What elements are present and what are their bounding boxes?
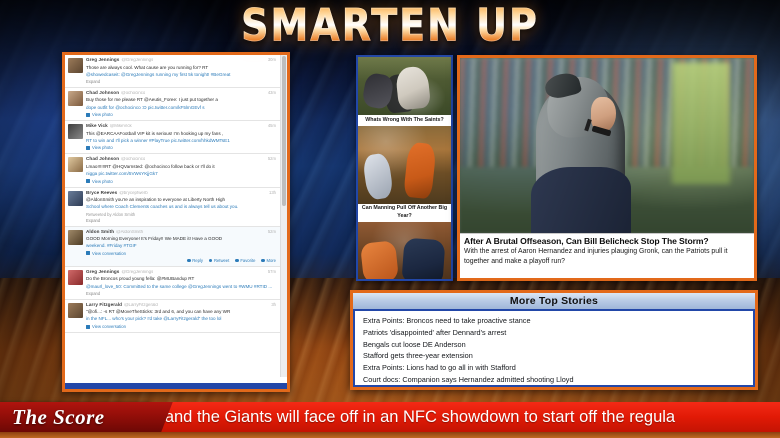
- ticker-bottom-edge: [0, 432, 780, 438]
- saints-photo: [358, 57, 451, 115]
- tweet-author-name[interactable]: Greg Jennings: [86, 270, 119, 275]
- tweet-body: Aldon Smith@AldonSmith52mGOOD Morning Ev…: [86, 230, 276, 263]
- tweet-author-name[interactable]: Mike Vick: [86, 124, 108, 129]
- belichick-photo: [460, 58, 754, 234]
- story-list-item[interactable]: Extra Points: Broncos need to take proac…: [363, 315, 747, 327]
- tweet-timestamp: 30m: [266, 58, 276, 62]
- tweet-author-name[interactable]: Larry Fitzgerald: [86, 303, 122, 308]
- thumbnail-photo-layer: [358, 222, 451, 281]
- tweet-author-handle[interactable]: @ochocinco: [121, 157, 145, 161]
- tweet-author-handle[interactable]: @LarryFitzgerald: [124, 303, 158, 307]
- tweet-author-handle[interactable]: @brycepfwerb: [119, 191, 147, 195]
- scrollbar-thumb[interactable]: [282, 56, 286, 206]
- tweet-text: This @EARCAAFootball VIP kit is serious!…: [86, 130, 276, 137]
- ticker-text: s and the Giants will face off in an NFC…: [152, 408, 675, 427]
- tweet-action-reply-button[interactable]: Reply: [187, 258, 203, 263]
- twitter-feed-inner: Greg Jennings@GregJennings30mThose are a…: [65, 55, 287, 389]
- ticker-strip: s and the Giants will face off in an NFC…: [150, 402, 780, 432]
- ticker-bar: The Score s and the Giants will face off…: [0, 402, 780, 432]
- tweet-media-link[interactable]: View photo: [86, 145, 276, 150]
- tweet-author-name[interactable]: Greg Jennings: [86, 58, 119, 63]
- tweet-media-label: View conversation: [92, 251, 126, 256]
- avatar[interactable]: [68, 91, 83, 106]
- tweet-body: Greg Jennings@GregJennings57mDo the Bron…: [86, 270, 276, 296]
- photo-icon: [86, 113, 90, 117]
- tweet-header: Bryce Reeves@brycepfwerb13h: [86, 191, 276, 196]
- photo-icon: [86, 325, 90, 329]
- tweet-author-handle[interactable]: @GregJennings: [121, 270, 153, 274]
- tweet-expand-link[interactable]: Expand: [86, 218, 276, 223]
- tweet-text: Do the Broncos proud young fella: @#MUBa…: [86, 275, 276, 282]
- tweet-media-link[interactable]: View conversation: [86, 324, 276, 329]
- tweet-text: "@ofi...: -s RT @MoveTheSticks: 3rd and …: [86, 308, 276, 315]
- more-top-stories-panel: More Top Stories Extra Points: Broncos n…: [350, 290, 758, 390]
- main-story-panel[interactable]: After A Brutal Offseason, Can Bill Belic…: [457, 55, 757, 281]
- tweet-media-label: View photo: [92, 179, 113, 184]
- tweet-list[interactable]: Greg Jennings@GregJennings30mThose are a…: [65, 55, 280, 377]
- main-story-summary: With the arrest of Aaron Hernandez and i…: [460, 247, 754, 270]
- tweet-header: Chad Johnson@ochocinco43m: [86, 91, 276, 96]
- tweet-text: GOOD Morning Everyone! It's Friday!! We …: [86, 235, 276, 242]
- tweet-header: Greg Jennings@GregJennings57m: [86, 270, 276, 275]
- scrollbar[interactable]: [280, 55, 287, 377]
- tweet-action-label: Reply: [192, 258, 203, 263]
- avatar[interactable]: [68, 124, 83, 139]
- avatar[interactable]: [68, 230, 83, 245]
- avatar[interactable]: [68, 191, 83, 206]
- thumbnail-caption: Can Manning Pull Off Another Big Year?: [358, 204, 451, 222]
- tweet-author-handle[interactable]: @AldonSmith: [116, 230, 143, 234]
- ticker-brand: The Score: [0, 402, 150, 432]
- tweet-actions: ReplyRetweetFavoriteMore: [86, 258, 276, 263]
- tweet-header: Chad Johnson@ochocinco52m: [86, 157, 276, 162]
- tweet-author-handle[interactable]: @MikeVick: [110, 124, 132, 128]
- thumbnail-photo-layer: [358, 57, 451, 115]
- thumbnail-item[interactable]: Da Bears!: [358, 222, 451, 281]
- tweet-text: Those are always cool. What cause are yo…: [86, 64, 276, 71]
- tweet-media-link[interactable]: View photo: [86, 179, 276, 184]
- thumbnail-photo-layer: [358, 126, 451, 204]
- photo-icon: [86, 251, 90, 255]
- main-story-headline: After A Brutal Offseason, Can Bill Belic…: [460, 234, 754, 247]
- tweet-action-more-button[interactable]: More: [261, 258, 276, 263]
- tweet-item[interactable]: Chad Johnson@ochocinco43mBuy those for m…: [65, 88, 280, 121]
- tweet-body: Bryce Reeves@brycepfwerb13h@AldonSmith y…: [86, 191, 276, 223]
- tweet-text-continued: RT to win and I'll pick a winner #PlayTr…: [86, 137, 276, 144]
- tweet-text: @AldonSmith you're an inspiration to eve…: [86, 196, 276, 203]
- tweet-action-label: Favorite: [240, 258, 255, 263]
- tweet-author-handle[interactable]: @ochocinco: [121, 91, 145, 95]
- story-list-item[interactable]: Extra Points: Lions had to go all in wit…: [363, 362, 747, 374]
- tweet-body: Chad Johnson@ochocinco43mBuy those for m…: [86, 91, 276, 117]
- title-container: SMARTEN UP: [0, 2, 780, 48]
- story-list-item[interactable]: Patriots 'disappointed' after Dennard's …: [363, 327, 747, 339]
- thumbnail-item[interactable]: Whats Wrong With The Saints?: [358, 57, 451, 126]
- tweet-media-label: View conversation: [92, 324, 126, 329]
- retweet-icon: [209, 259, 213, 263]
- favorite-icon: [235, 259, 239, 263]
- ticker-brand-label: The Score: [12, 405, 105, 430]
- tweet-author-handle[interactable]: @GregJennings: [121, 58, 153, 62]
- tweet-text-continued: @showedcaseit: @GregJennings running my …: [86, 71, 276, 78]
- tweet-media-link[interactable]: View photo: [86, 112, 276, 117]
- photo-coach-shoulder: [531, 167, 631, 235]
- tweet-action-retweet-button[interactable]: Retweet: [209, 258, 229, 263]
- tweet-author-name[interactable]: Bryce Reeves: [86, 191, 117, 196]
- tweet-author-name[interactable]: Aldon Smith: [86, 230, 114, 235]
- tweet-item[interactable]: Larry Fitzgerald@LarryFitzgerald3h"@ofi.…: [65, 300, 280, 333]
- tweet-text-continued: weekend. #Friday #TGIF: [86, 242, 276, 249]
- photo-icon: [86, 179, 90, 183]
- more-top-stories-title: More Top Stories: [510, 295, 598, 307]
- tweet-text: Buy those for me please RT @Aeutis_Foree…: [86, 96, 276, 103]
- tweet-expand-link[interactable]: Expand: [86, 291, 276, 296]
- page-title: SMARTEN UP: [241, 3, 539, 48]
- tweet-body: Greg Jennings@GregJennings30mThose are a…: [86, 58, 276, 84]
- bears-photo: [358, 222, 451, 281]
- tweet-item[interactable]: Mike Vick@MikeVick45mThis @EARCAAFootbal…: [65, 121, 280, 154]
- avatar[interactable]: [68, 270, 83, 285]
- more-top-stories-header: More Top Stories: [353, 293, 755, 311]
- tweet-body: Mike Vick@MikeVick45mThis @EARCAAFootbal…: [86, 124, 276, 150]
- tweet-header: Greg Jennings@GregJennings30m: [86, 58, 276, 63]
- more-top-stories-list: Extra Points: Broncos need to take proac…: [353, 311, 755, 387]
- tweet-timestamp: 3h: [269, 303, 276, 307]
- reply-icon: [187, 259, 191, 263]
- twitter-feed-panel: Greg Jennings@GregJennings30mThose are a…: [62, 52, 290, 392]
- tweet-timestamp: 57m: [266, 270, 276, 274]
- tweet-item[interactable]: Bryce Reeves@brycepfwerb13h@AldonSmith y…: [65, 188, 280, 227]
- tweet-author-name[interactable]: Chad Johnson: [86, 91, 119, 96]
- tweet-text-continued: @maurl_love_50: Committed to the same co…: [86, 283, 276, 290]
- tweet-expand-link[interactable]: Expand: [86, 79, 276, 84]
- tweet-retweet-note: Retweeted by Aldon Smith: [86, 212, 276, 217]
- broadcast-graphic-stage: SMARTEN UP Greg Jennings@GregJennings30m…: [0, 0, 780, 438]
- tweet-text-continued: nigga pic.twitter.com/5VWsYKjjGk7: [86, 170, 276, 177]
- avatar[interactable]: [68, 157, 83, 172]
- more-icon: [261, 259, 265, 263]
- tweet-header: Larry Fitzgerald@LarryFitzgerald3h: [86, 303, 276, 308]
- tweet-item[interactable]: Chad Johnson@ochocinco52mLmao!!!!!!RT @H…: [65, 154, 280, 187]
- tweet-item[interactable]: Greg Jennings@GregJennings57mDo the Bron…: [65, 267, 280, 300]
- tweet-item[interactable]: Aldon Smith@AldonSmith52mGOOD Morning Ev…: [65, 227, 280, 267]
- tweet-header: Mike Vick@MikeVick45m: [86, 124, 276, 129]
- tweet-media-label: View photo: [92, 112, 113, 117]
- thumbnail-caption: Whats Wrong With The Saints?: [358, 115, 451, 126]
- tweet-timestamp: 13h: [267, 191, 276, 195]
- tweet-body: Chad Johnson@ochocinco52mLmao!!!!!!RT @H…: [86, 157, 276, 183]
- tweet-item[interactable]: Greg Jennings@GregJennings30mThose are a…: [65, 55, 280, 88]
- tweet-text-continued: in the NFL... who's your pick? I'd take …: [86, 315, 276, 322]
- tweet-text-continued: School where Coach Clements coaches us a…: [86, 203, 276, 210]
- tweet-author-name[interactable]: Chad Johnson: [86, 157, 119, 162]
- story-list-item[interactable]: Court docs: Companion says Hernandez adm…: [363, 374, 747, 386]
- tweet-media-link[interactable]: View conversation: [86, 251, 276, 256]
- story-list-item[interactable]: Stafford gets three-year extension: [363, 350, 747, 362]
- story-list-item[interactable]: Bengals cut loose DE Anderson: [363, 339, 747, 351]
- tweet-action-label: More: [266, 258, 276, 263]
- tweet-text-continued: dope outfit for @ochocinco :D pic.twitte…: [86, 104, 276, 111]
- tweet-timestamp: 52m: [266, 157, 276, 161]
- tweet-body: Larry Fitzgerald@LarryFitzgerald3h"@ofi.…: [86, 303, 276, 329]
- thumbnail-column: Whats Wrong With The Saints?Can Manning …: [356, 55, 453, 281]
- photo-icon: [86, 146, 90, 150]
- thumbnail-item[interactable]: Can Manning Pull Off Another Big Year?: [358, 126, 451, 222]
- tweet-timestamp: 45m: [266, 124, 276, 128]
- tweet-timestamp: 52m: [266, 230, 276, 234]
- tweet-media-label: View photo: [92, 145, 113, 150]
- tweet-text: Lmao!!!!!!RT @HQVarnsted: @ochocinco fol…: [86, 163, 276, 170]
- manning-photo: [358, 126, 451, 204]
- tweet-action-favorite-button[interactable]: Favorite: [235, 258, 255, 263]
- tweet-timestamp: 43m: [266, 91, 276, 95]
- tweet-header: Aldon Smith@AldonSmith52m: [86, 230, 276, 235]
- tweet-action-label: Retweet: [214, 258, 229, 263]
- avatar[interactable]: [68, 303, 83, 318]
- photo-green-layer: [672, 62, 731, 185]
- avatar[interactable]: [68, 58, 83, 73]
- story-list-item[interactable]: Broncos' Heckert facing DUI charges: [363, 386, 747, 387]
